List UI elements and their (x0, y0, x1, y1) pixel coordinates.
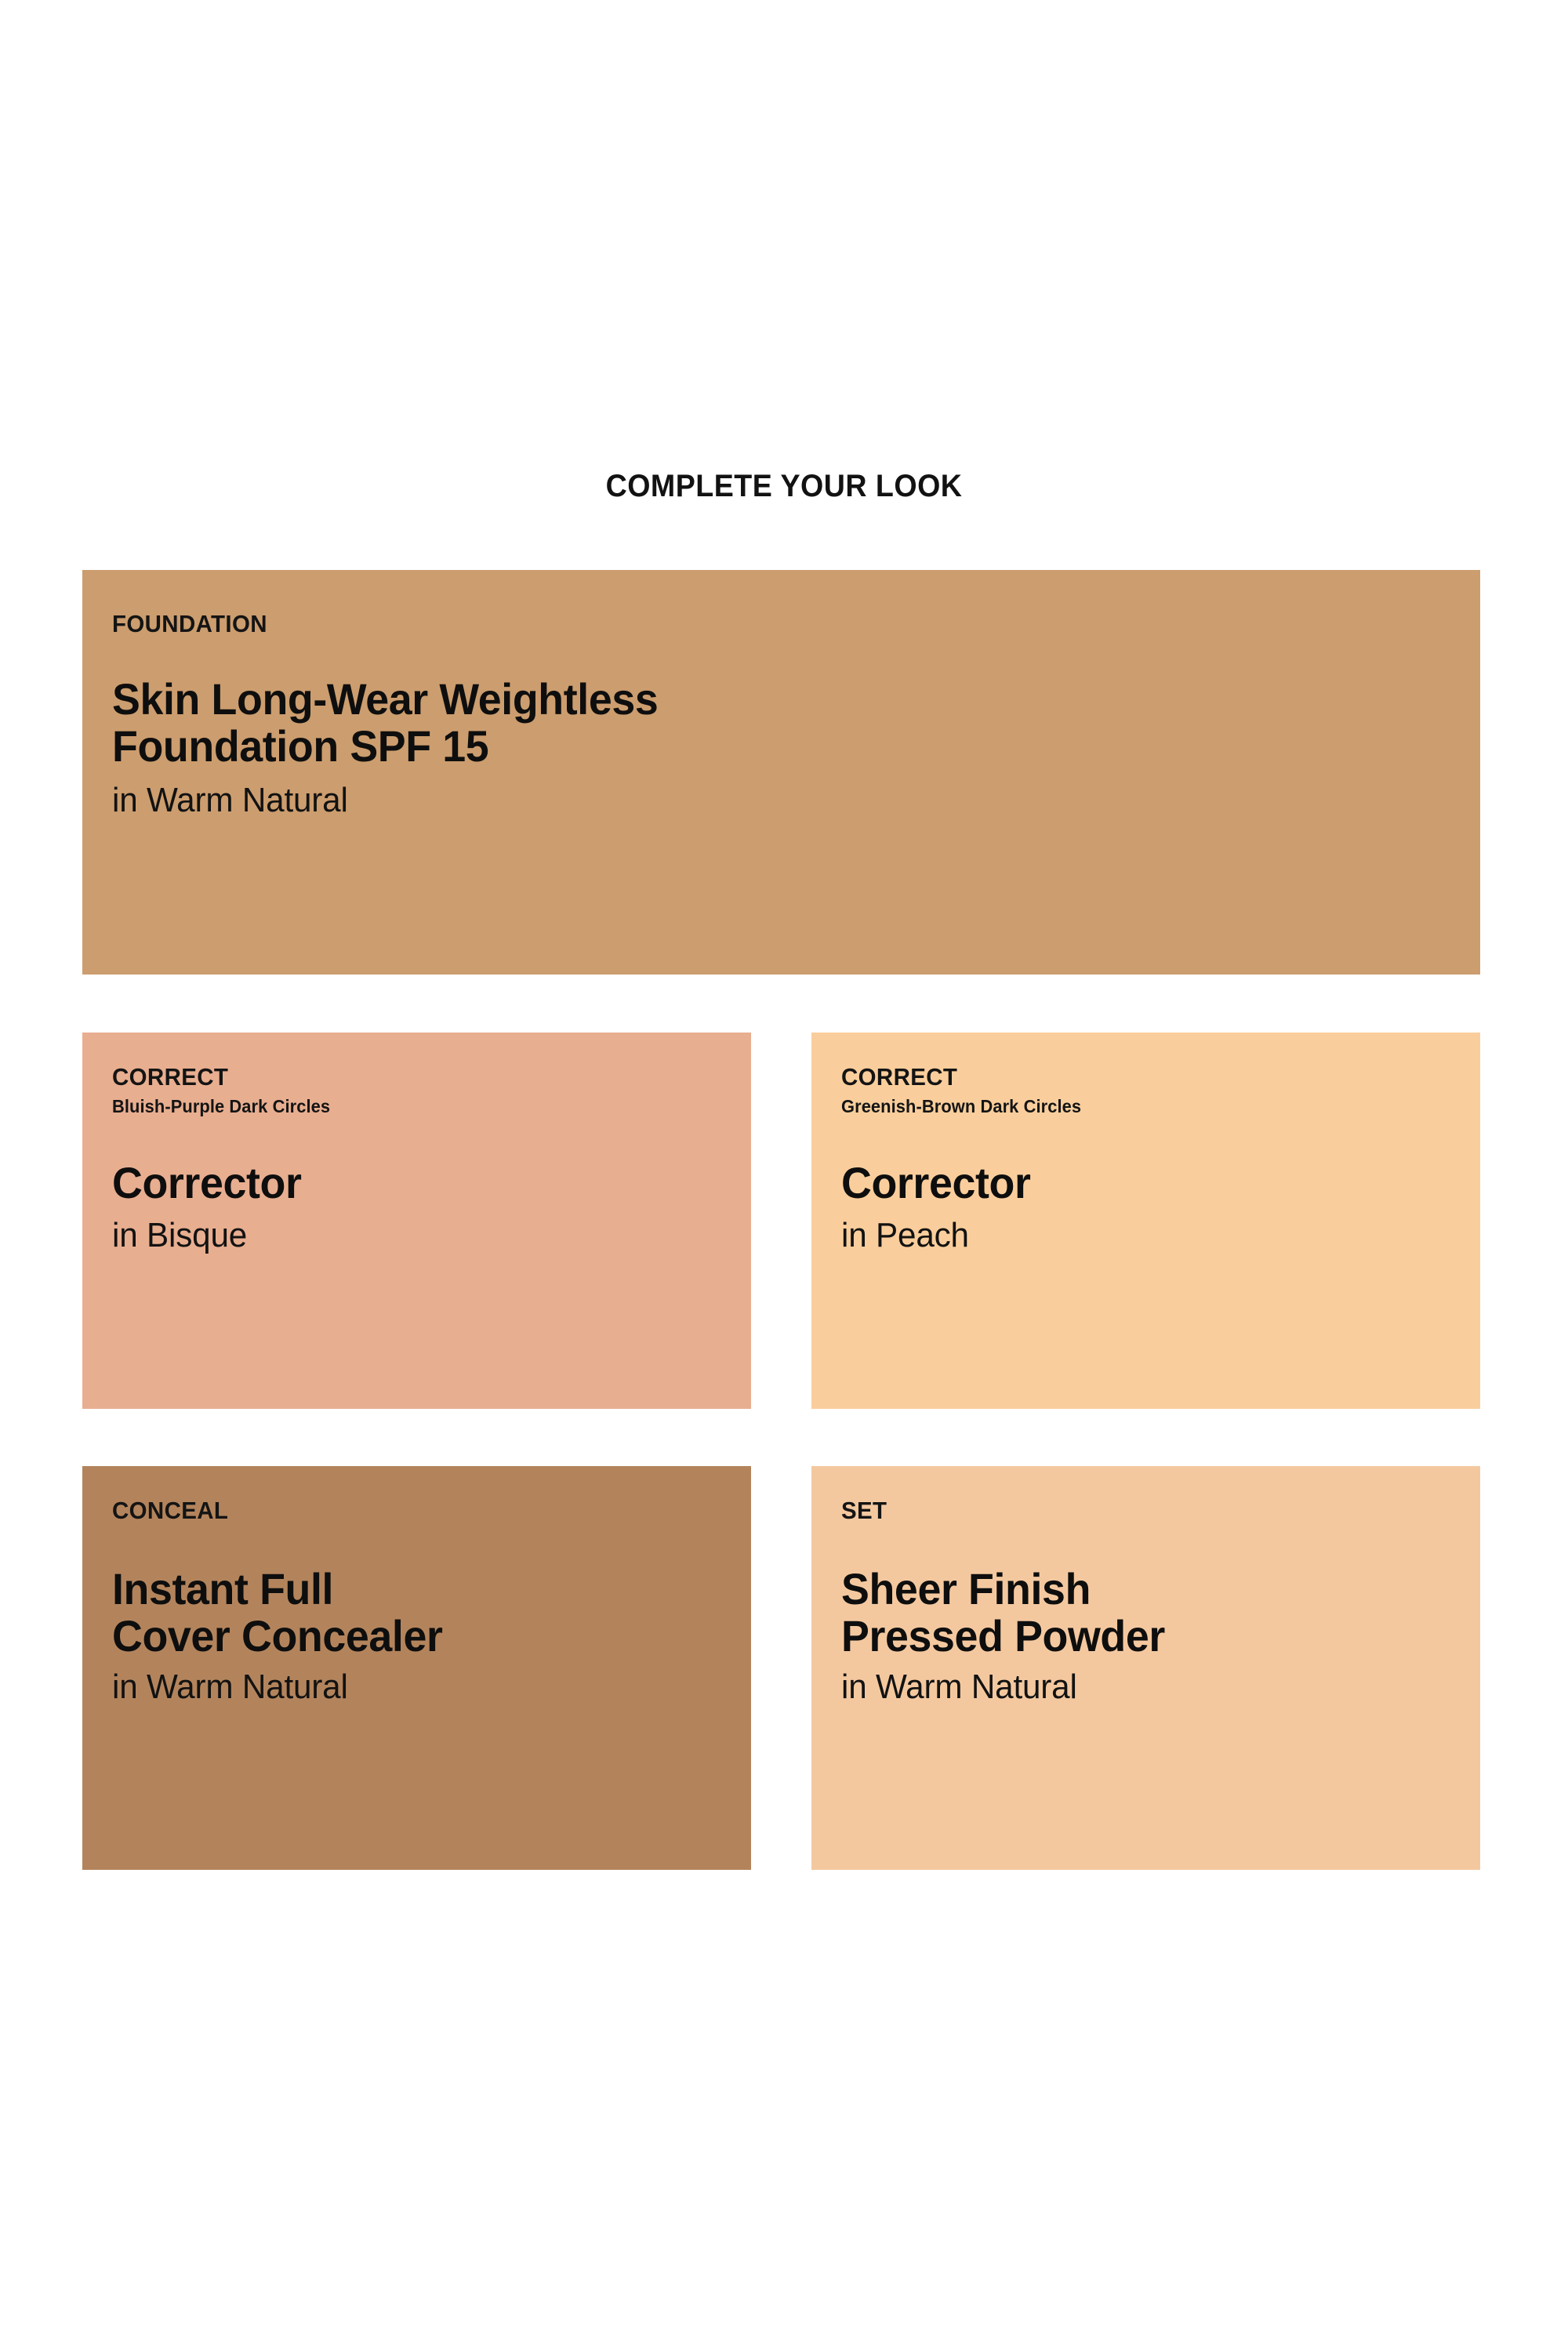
complete-your-look-panel: COMPLETE YOUR LOOK FOUNDATION Skin Long-… (0, 0, 1568, 2352)
product-name: Skin Long-Wear Weightless Foundation SPF… (112, 676, 1406, 770)
page-title: COMPLETE YOUR LOOK (47, 469, 1521, 504)
product-card-pressed-powder[interactable]: SET Sheer Finish Pressed Powder in Warm … (811, 1466, 1480, 1870)
product-name: Corrector (841, 1160, 1435, 1207)
product-step-detail: Bluish-Purple Dark Circles (112, 1096, 700, 1118)
product-step-label: SET (841, 1497, 1429, 1525)
product-step-label: CORRECT (112, 1064, 700, 1091)
product-step-label: CORRECT (841, 1064, 1429, 1091)
product-name: Corrector (112, 1160, 706, 1207)
product-shade: in Bisque (112, 1216, 706, 1254)
product-name: Sheer Finish Pressed Powder (841, 1566, 1435, 1660)
product-shade: in Warm Natural (112, 1668, 706, 1706)
product-step-label: FOUNDATION (112, 611, 1392, 638)
product-card-concealer[interactable]: CONCEAL Instant Full Cover Concealer in … (82, 1466, 751, 1870)
product-step-label: CONCEAL (112, 1497, 700, 1525)
product-card-corrector-peach[interactable]: CORRECT Greenish-Brown Dark Circles Corr… (811, 1033, 1480, 1409)
product-step-detail: Greenish-Brown Dark Circles (841, 1096, 1429, 1118)
product-card-corrector-bisque[interactable]: CORRECT Bluish-Purple Dark Circles Corre… (82, 1033, 751, 1409)
product-name: Instant Full Cover Concealer (112, 1566, 706, 1660)
product-shade: in Warm Natural (841, 1668, 1435, 1706)
product-shade: in Peach (841, 1216, 1435, 1254)
product-card-foundation[interactable]: FOUNDATION Skin Long-Wear Weightless Fou… (82, 570, 1480, 975)
product-shade: in Warm Natural (112, 781, 1406, 819)
